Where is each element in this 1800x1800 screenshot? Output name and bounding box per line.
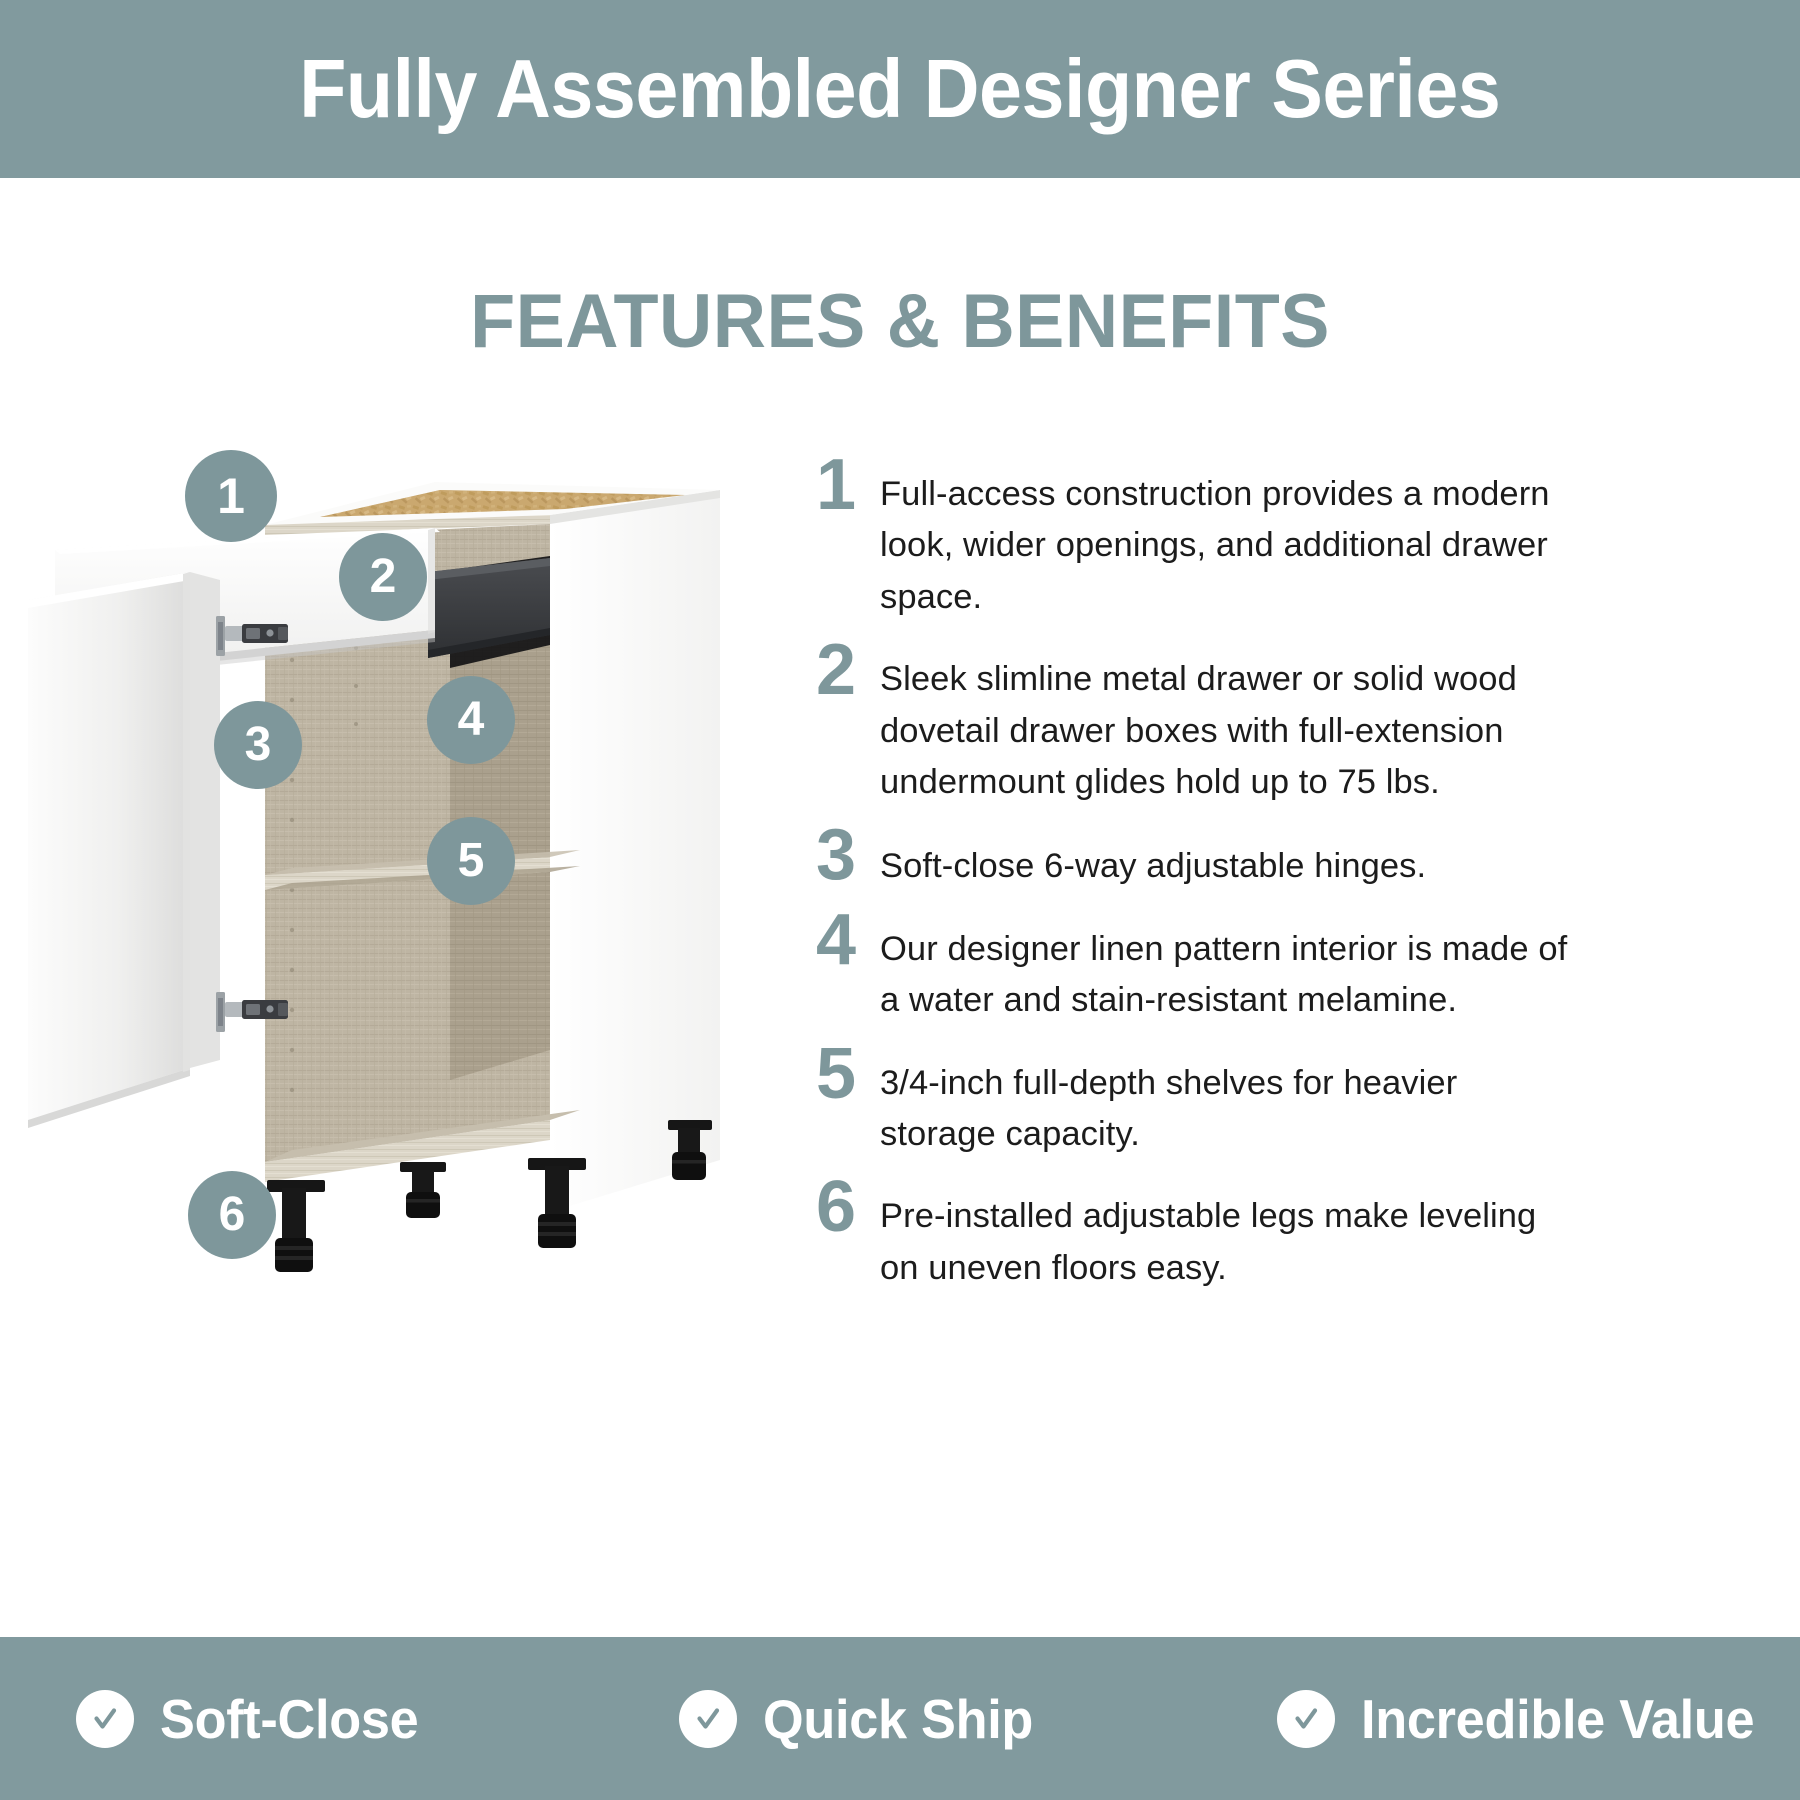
callout-badge-3: 3 [214,701,302,789]
check-circle-icon [76,1690,134,1748]
callout-badge-2: 2 [339,533,427,621]
feature-text-1: Full-access construction provides a mode… [880,452,1568,623]
check-circle-icon [1277,1690,1335,1748]
feature-number-2: 2 [808,637,880,703]
footer-label-quick-ship: Quick Ship [763,1687,1033,1751]
footer-badge-quick-ship: Quick Ship [599,1687,1202,1751]
callout-badge-1: 1 [185,450,277,542]
feature-text-4: Our designer linen pattern interior is m… [880,907,1568,1027]
cabinet-door [28,572,190,1120]
feature-item-1: 1 Full-access construction provides a mo… [808,452,1568,623]
feature-item-3: 3 Soft-close 6-way adjustable hinges. [808,822,1568,892]
feature-item-2: 2 Sleek slimline metal drawer or solid w… [808,637,1568,808]
feature-text-5: 3/4-inch full-depth shelves for heavier … [880,1041,1568,1161]
feature-number-3: 3 [808,822,880,888]
feature-number-5: 5 [808,1041,880,1107]
feature-text-6: Pre-installed adjustable legs make level… [880,1174,1568,1294]
feature-number-1: 1 [808,452,880,518]
feature-item-5: 5 3/4-inch full-depth shelves for heavie… [808,1041,1568,1161]
feature-item-6: 6 Pre-installed adjustable legs make lev… [808,1174,1568,1294]
check-circle-icon [679,1690,737,1748]
feature-text-2: Sleek slimline metal drawer or solid woo… [880,637,1568,808]
feature-number-6: 6 [808,1174,880,1240]
callout-badge-4: 4 [427,676,515,764]
page-header: Fully Assembled Designer Series [0,0,1800,178]
footer-badge-incredible-value: Incredible Value [1201,1687,1800,1751]
section-heading: FEATURES & BENEFITS [27,278,1773,365]
feature-number-4: 4 [808,907,880,973]
callout-badge-5: 5 [427,817,515,905]
features-list: 1 Full-access construction provides a mo… [808,452,1568,1308]
callout-badge-6: 6 [188,1171,276,1259]
footer-label-soft-close: Soft-Close [160,1687,418,1751]
footer-label-incredible-value: Incredible Value [1361,1687,1754,1751]
feature-item-4: 4 Our designer linen pattern interior is… [808,907,1568,1027]
page-footer: Soft-Close Quick Ship Incredible Value [0,1637,1800,1800]
footer-badge-soft-close: Soft-Close [0,1687,599,1751]
feature-text-3: Soft-close 6-way adjustable hinges. [880,822,1568,892]
page-title: Fully Assembled Designer Series [299,41,1500,137]
door-inner-face [190,572,220,1068]
